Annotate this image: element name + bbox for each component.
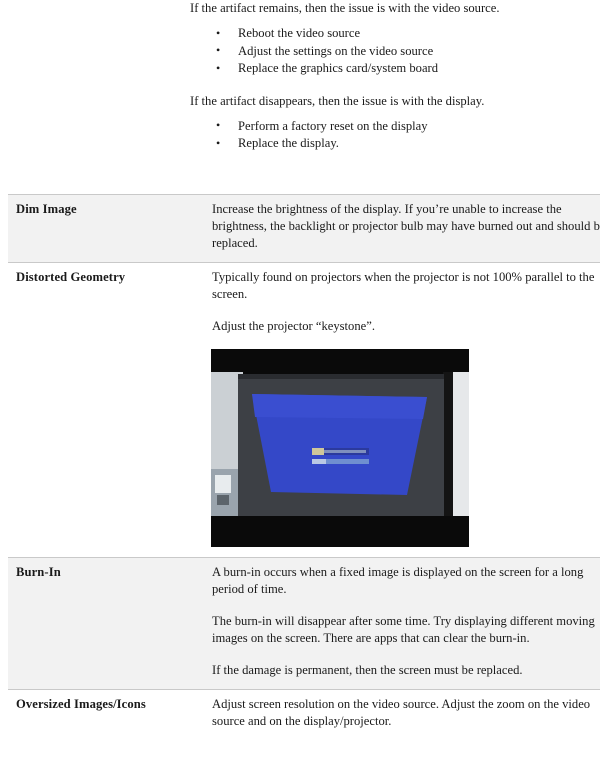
list-item: • Reboot the video source (190, 25, 590, 43)
table-cell-description: Adjust screen resolution on the video so… (204, 690, 600, 741)
list-item-label: Adjust the settings on the video source (238, 44, 433, 58)
bullet-icon: • (216, 25, 220, 43)
projector-keystone-distortion-photo (211, 349, 469, 547)
list-item-label: Reboot the video source (238, 26, 360, 40)
bullet-icon: • (216, 135, 220, 153)
description-paragraph: Adjust the projector “keystone”. (212, 318, 600, 335)
list-item-label: Perform a factory reset on the display (238, 119, 428, 133)
intro-paragraph-2: If the artifact disappears, then the iss… (190, 93, 590, 110)
intro-bullet-list-1: • Reboot the video source • Adjust the s… (190, 25, 590, 78)
table-cell-term: Oversized Images/Icons (8, 690, 204, 741)
projector-photo-graphic (211, 349, 469, 547)
table-row: Oversized Images/Icons Adjust screen res… (8, 690, 600, 741)
bullet-icon: • (216, 60, 220, 78)
table-row: Dim Image Increase the brightness of the… (8, 195, 600, 263)
table-cell-term: Distorted Geometry (8, 263, 204, 558)
table-cell-term: Burn-In (8, 558, 204, 690)
document-page: If the artifact remains, then the issue … (0, 0, 600, 758)
intro-continuation-block: If the artifact remains, then the issue … (190, 0, 590, 153)
list-item: • Perform a factory reset on the display (190, 118, 590, 136)
intro-bullet-list-2: • Perform a factory reset on the display… (190, 118, 590, 153)
troubleshooting-table: Dim Image Increase the brightness of the… (8, 194, 600, 741)
table-cell-description: A burn-in occurs when a fixed image is d… (204, 558, 600, 690)
bullet-icon: • (216, 117, 220, 135)
description-paragraph: The burn-in will disappear after some ti… (212, 613, 600, 647)
table-cell-description: Typically found on projectors when the p… (204, 263, 600, 558)
bullet-icon: • (216, 42, 220, 60)
list-item-label: Replace the graphics card/system board (238, 61, 438, 75)
description-paragraph: Adjust screen resolution on the video so… (212, 696, 600, 730)
list-item: • Replace the display. (190, 135, 590, 153)
description-paragraph: Increase the brightness of the display. … (212, 201, 600, 252)
table-cell-term: Dim Image (8, 195, 204, 263)
table-row: Distorted Geometry Typically found on pr… (8, 263, 600, 558)
description-paragraph: Typically found on projectors when the p… (212, 269, 600, 303)
description-paragraph: A burn-in occurs when a fixed image is d… (212, 564, 600, 598)
list-item: • Adjust the settings on the video sourc… (190, 43, 590, 61)
table-row: Burn-In A burn-in occurs when a fixed im… (8, 558, 600, 690)
intro-paragraph-1: If the artifact remains, then the issue … (190, 0, 590, 17)
table-cell-description: Increase the brightness of the display. … (204, 195, 600, 263)
description-paragraph: If the damage is permanent, then the scr… (212, 662, 600, 679)
list-item-label: Replace the display. (238, 136, 339, 150)
list-item: • Replace the graphics card/system board (190, 60, 590, 78)
